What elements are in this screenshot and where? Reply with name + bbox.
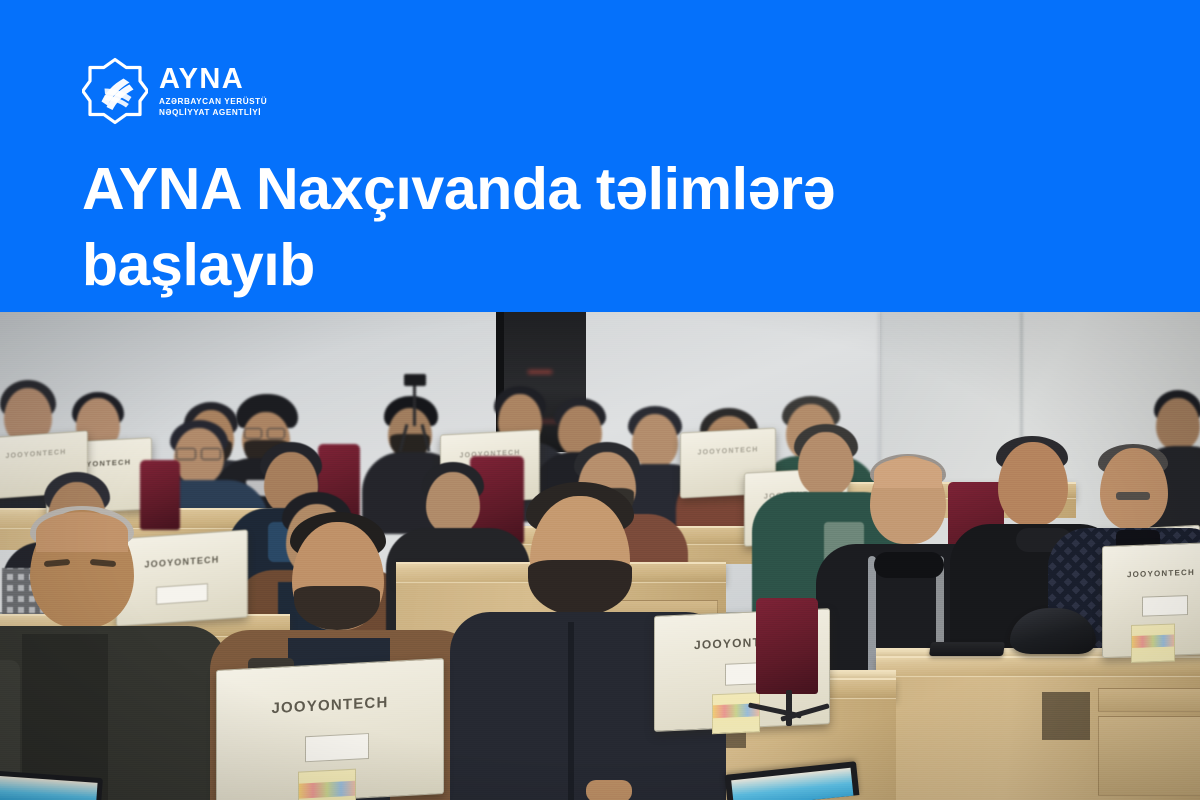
desk-front-right-opening [1042, 692, 1090, 740]
classroom-photo: JOOYONTECH JOOYONTECH JOOYONTECH JOOYONT… [0, 312, 1200, 800]
camera-tripod [398, 374, 432, 454]
brand-text-block: AYNA AZƏRBAYCAN YERÜSTÜ NƏQLİYYAT AGENTL… [159, 63, 267, 119]
monitor-front-right: JOOYONTECH [1102, 542, 1200, 658]
news-banner-page: AYNA AZƏRBAYCAN YERÜSTÜ NƏQLİYYAT AGENTL… [0, 0, 1200, 800]
person-front-left-elder [0, 502, 216, 800]
monitor-note-card [1131, 624, 1175, 664]
ayna-eight-point-star-logo-icon [82, 56, 148, 126]
monitor-note-card [298, 768, 356, 800]
monitor-brand-label: JOOYONTECH [1103, 567, 1200, 580]
desk-front-right-drawer-1 [1098, 688, 1200, 712]
monitor-note-card [712, 692, 760, 734]
brand-wordmark: AYNA [159, 65, 267, 94]
header-band: AYNA AZƏRBAYCAN YERÜSTÜ NƏQLİYYAT AGENTL… [0, 0, 1200, 312]
rack-indicator [528, 370, 552, 374]
desk-front-right-drawer-2 [1098, 716, 1200, 796]
chair-leg-1 [786, 690, 792, 726]
page-title: AYNA Naxçıvanda təlimlərə başlayıb [82, 152, 982, 303]
monitor-brand-label: JOOYONTECH [0, 447, 87, 461]
monitor-sticker [305, 733, 369, 762]
monitor-front-left-big: JOOYONTECH [216, 658, 444, 800]
brand-subtitle: AZƏRBAYCAN YERÜSTÜ NƏQLİYYAT AGENTLİYİ [159, 97, 267, 119]
brand-lockup: AYNA AZƏRBAYCAN YERÜSTÜ NƏQLİYYAT AGENTL… [82, 56, 267, 126]
chair-front-right [756, 598, 818, 694]
monitor-sticker [1142, 595, 1188, 617]
smartphone-on-desk [929, 642, 1005, 656]
monitor-brand-label: JOOYONTECH [217, 691, 443, 720]
